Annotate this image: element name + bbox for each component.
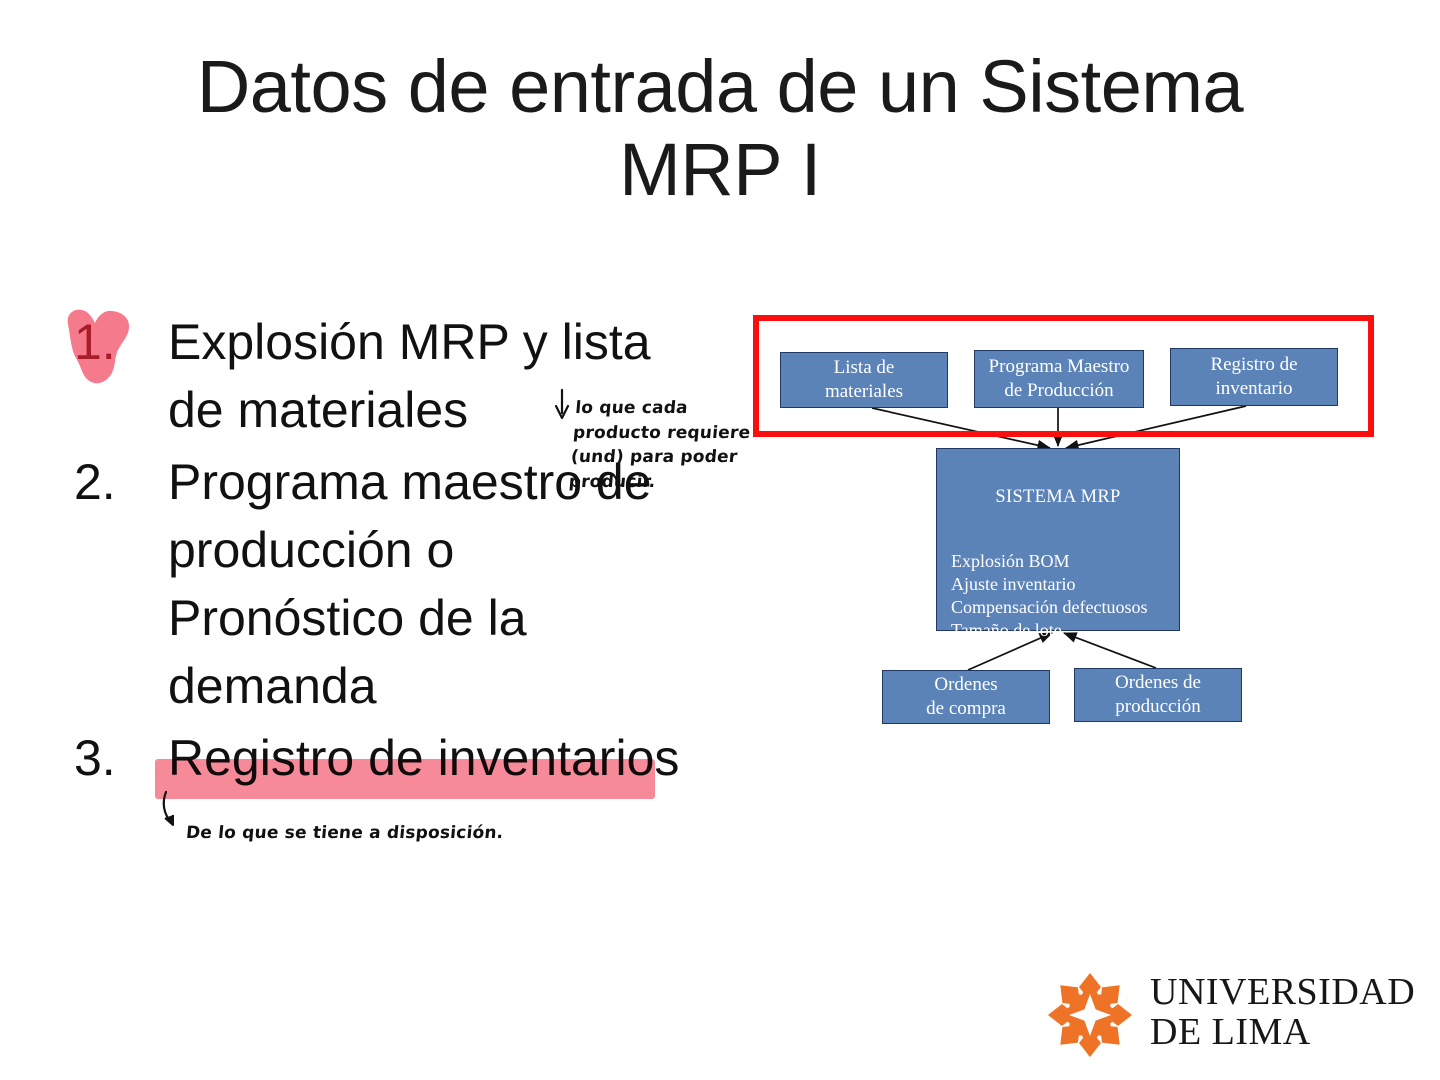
list-item-1-number: 1. bbox=[74, 308, 168, 376]
bullet-list: 1. Explosión MRP y lista de materiales 2… bbox=[74, 308, 734, 796]
handwritten-note-item-3: De lo que se tiene a disposición. bbox=[185, 821, 487, 846]
diagram-node-lista-de-materiales: Lista de materiales bbox=[780, 352, 948, 408]
sistema-mrp-title: SISTEMA MRP bbox=[937, 486, 1179, 509]
diagram-node-ordenes-de-compra: Ordenes de compra bbox=[882, 670, 1050, 724]
diagram-node-registro-de-inventario: Registro de inventario bbox=[1170, 348, 1338, 406]
logo-wordmark: UNIVERSIDAD DE LIMA bbox=[1150, 973, 1415, 1056]
university-logo: UNIVERSIDAD DE LIMA bbox=[1040, 962, 1390, 1068]
list-item-3-text: Registro de inventarios bbox=[168, 724, 734, 792]
slide-canvas: Datos de entrada de un Sistema MRP I 1. … bbox=[0, 0, 1440, 1080]
mrp-flow-diagram: Lista de materiales Programa Maestro de … bbox=[740, 300, 1420, 760]
sistema-mrp-functions: Explosión BOM Ajuste inventario Compensa… bbox=[937, 550, 1179, 642]
list-item-3: 3. Registro de inventarios bbox=[74, 724, 734, 792]
diagram-node-sistema-mrp: SISTEMA MRP Explosión BOM Ajuste inventa… bbox=[936, 448, 1180, 631]
diagram-node-ordenes-de-produccion: Ordenes de producción bbox=[1074, 668, 1242, 722]
list-item-3-number: 3. bbox=[74, 724, 168, 792]
page-title: Datos de entrada de un Sistema MRP I bbox=[150, 46, 1290, 212]
handwritten-note-item-1: lo que cada producto requiere (und) para… bbox=[568, 396, 767, 495]
eight-pointed-star-logo-icon bbox=[1040, 965, 1140, 1065]
list-item-2-number: 2. bbox=[74, 448, 168, 516]
diagram-node-programa-maestro-de-produccion: Programa Maestro de Producción bbox=[974, 350, 1144, 408]
